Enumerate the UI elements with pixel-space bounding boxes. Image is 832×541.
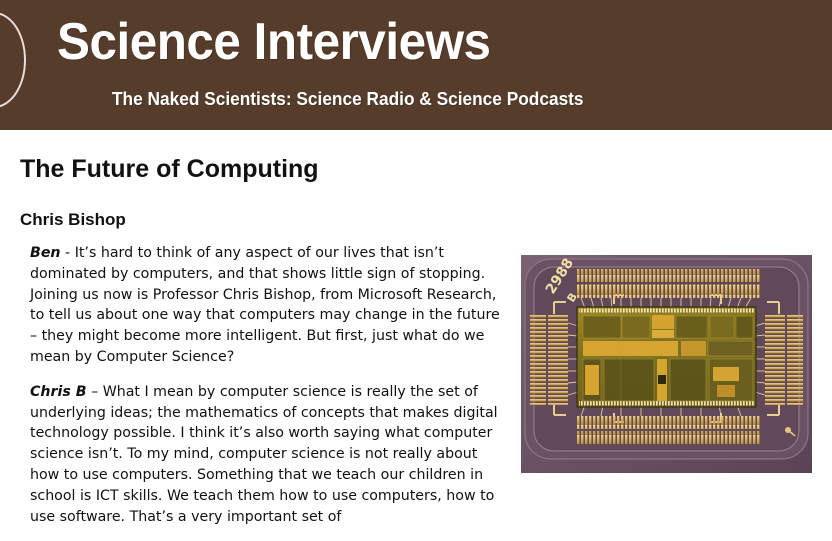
article-body: Ben - It’s hard to think of any aspect o… — [30, 243, 508, 541]
paragraph-text: What I mean by computer science is reall… — [30, 384, 498, 525]
microchip-die-graphic: 2988 B — [521, 255, 812, 473]
speaker-separator: - — [61, 245, 75, 261]
page-title: The Future of Computing — [20, 155, 319, 183]
transcript-paragraph: Ben - It’s hard to think of any aspect o… — [30, 243, 508, 368]
transcript-paragraph: Chris B – What I mean by computer scienc… — [30, 382, 508, 528]
article-page: The Future of Computing Chris Bishop Ben… — [0, 130, 832, 497]
microchip-die-photograph: 2988 B — [521, 255, 812, 473]
speaker-separator: – — [87, 384, 103, 400]
site-title: Science Interviews — [57, 13, 491, 71]
site-banner: Science Interviews The Naked Scientists:… — [0, 0, 832, 130]
article-byline: Chris Bishop — [20, 210, 126, 230]
speaker-label: Chris B — [30, 384, 87, 400]
speaker-label: Ben — [30, 245, 61, 261]
paragraph-text: It’s hard to think of any aspect of our … — [30, 245, 500, 365]
site-subtitle: The Naked Scientists: Science Radio & Sc… — [112, 88, 584, 110]
circle-outline-logo-icon — [0, 12, 26, 108]
